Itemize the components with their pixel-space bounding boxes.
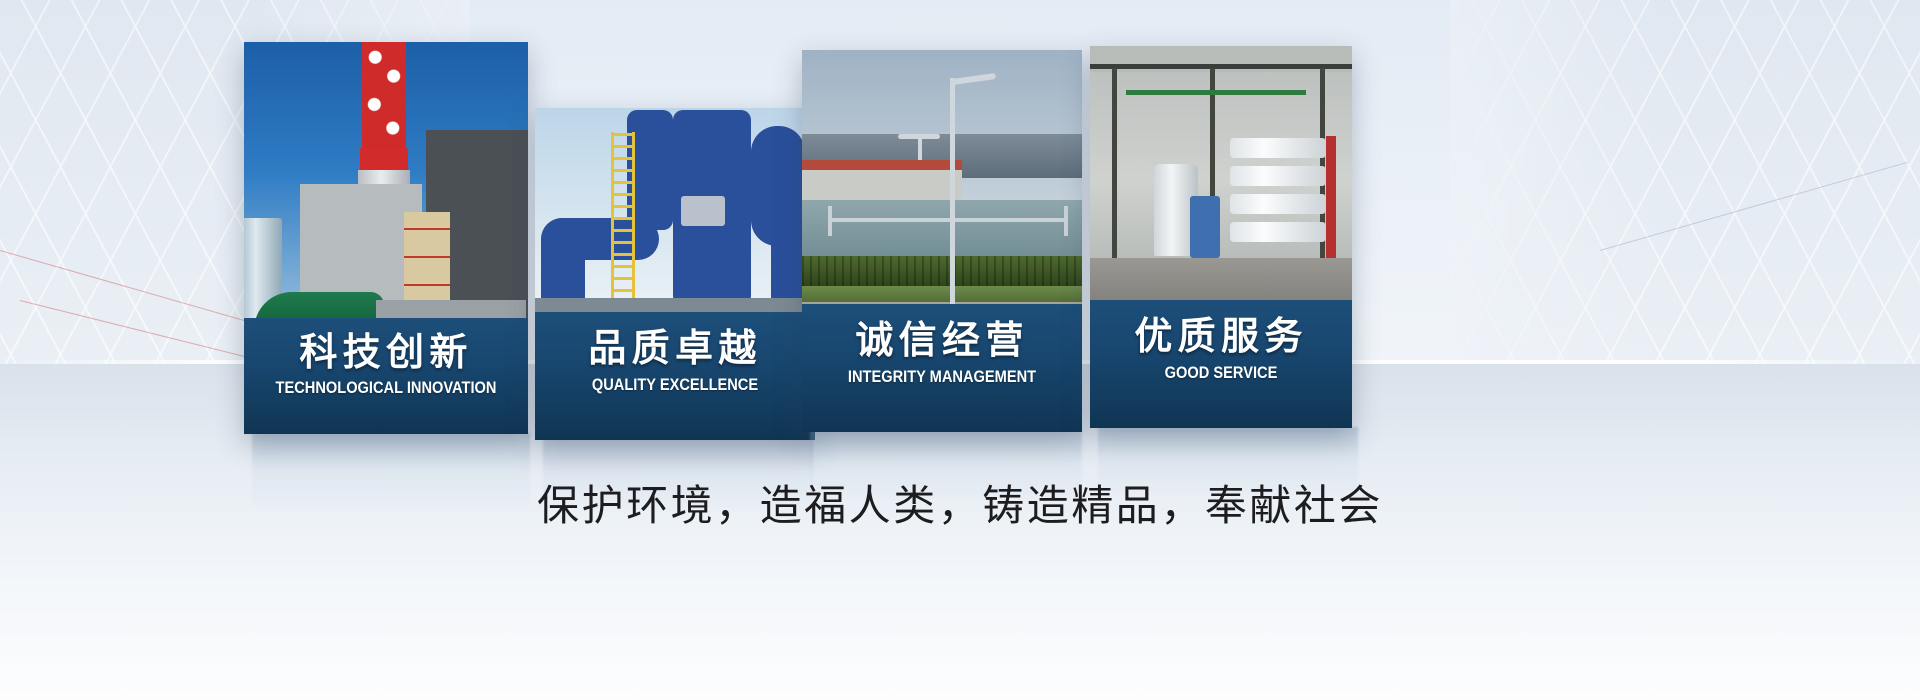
banner-tagline: 保护环境，造福人类，铸造精品，奉献社会 <box>0 472 1920 533</box>
panel-technological-innovation[interactable]: 科技创新 TECHNOLOGICAL INNOVATION <box>244 42 528 434</box>
panel-good-service[interactable]: 优质服务 GOOD SERVICE <box>1090 46 1352 428</box>
panel-caption-2: 品质卓越 QUALITY EXCELLENCE <box>535 312 815 440</box>
panel-title-en-1: TECHNOLOGICAL INNOVATION <box>264 376 508 400</box>
panel-photo-4 <box>1090 46 1352 314</box>
panel-photo-3 <box>802 50 1082 318</box>
panel-title-en-3: INTEGRITY MANAGEMENT <box>822 365 1063 389</box>
panel-caption-4: 优质服务 GOOD SERVICE <box>1090 300 1352 428</box>
panel-title-en-4: GOOD SERVICE <box>1108 361 1333 385</box>
panel-photo-2 <box>535 108 815 326</box>
panel-photo-1 <box>244 42 528 330</box>
panel-title-cn-2: 品质卓越 <box>535 326 815 370</box>
panel-integrity-management[interactable]: 诚信经营 INTEGRITY MANAGEMENT <box>802 50 1082 432</box>
hero-banner: 科技创新 TECHNOLOGICAL INNOVATION 品质卓越 QUALI… <box>0 0 1920 700</box>
panel-title-cn-1: 科技创新 <box>244 330 528 374</box>
panel-title-cn-3: 诚信经营 <box>802 318 1082 362</box>
panel-caption-1: 科技创新 TECHNOLOGICAL INNOVATION <box>244 318 528 434</box>
panel-title-cn-4: 优质服务 <box>1090 314 1352 358</box>
panel-caption-3: 诚信经营 INTEGRITY MANAGEMENT <box>802 304 1082 432</box>
panel-quality-excellence[interactable]: 品质卓越 QUALITY EXCELLENCE <box>535 108 815 440</box>
panel-title-en-2: QUALITY EXCELLENCE <box>555 373 796 397</box>
